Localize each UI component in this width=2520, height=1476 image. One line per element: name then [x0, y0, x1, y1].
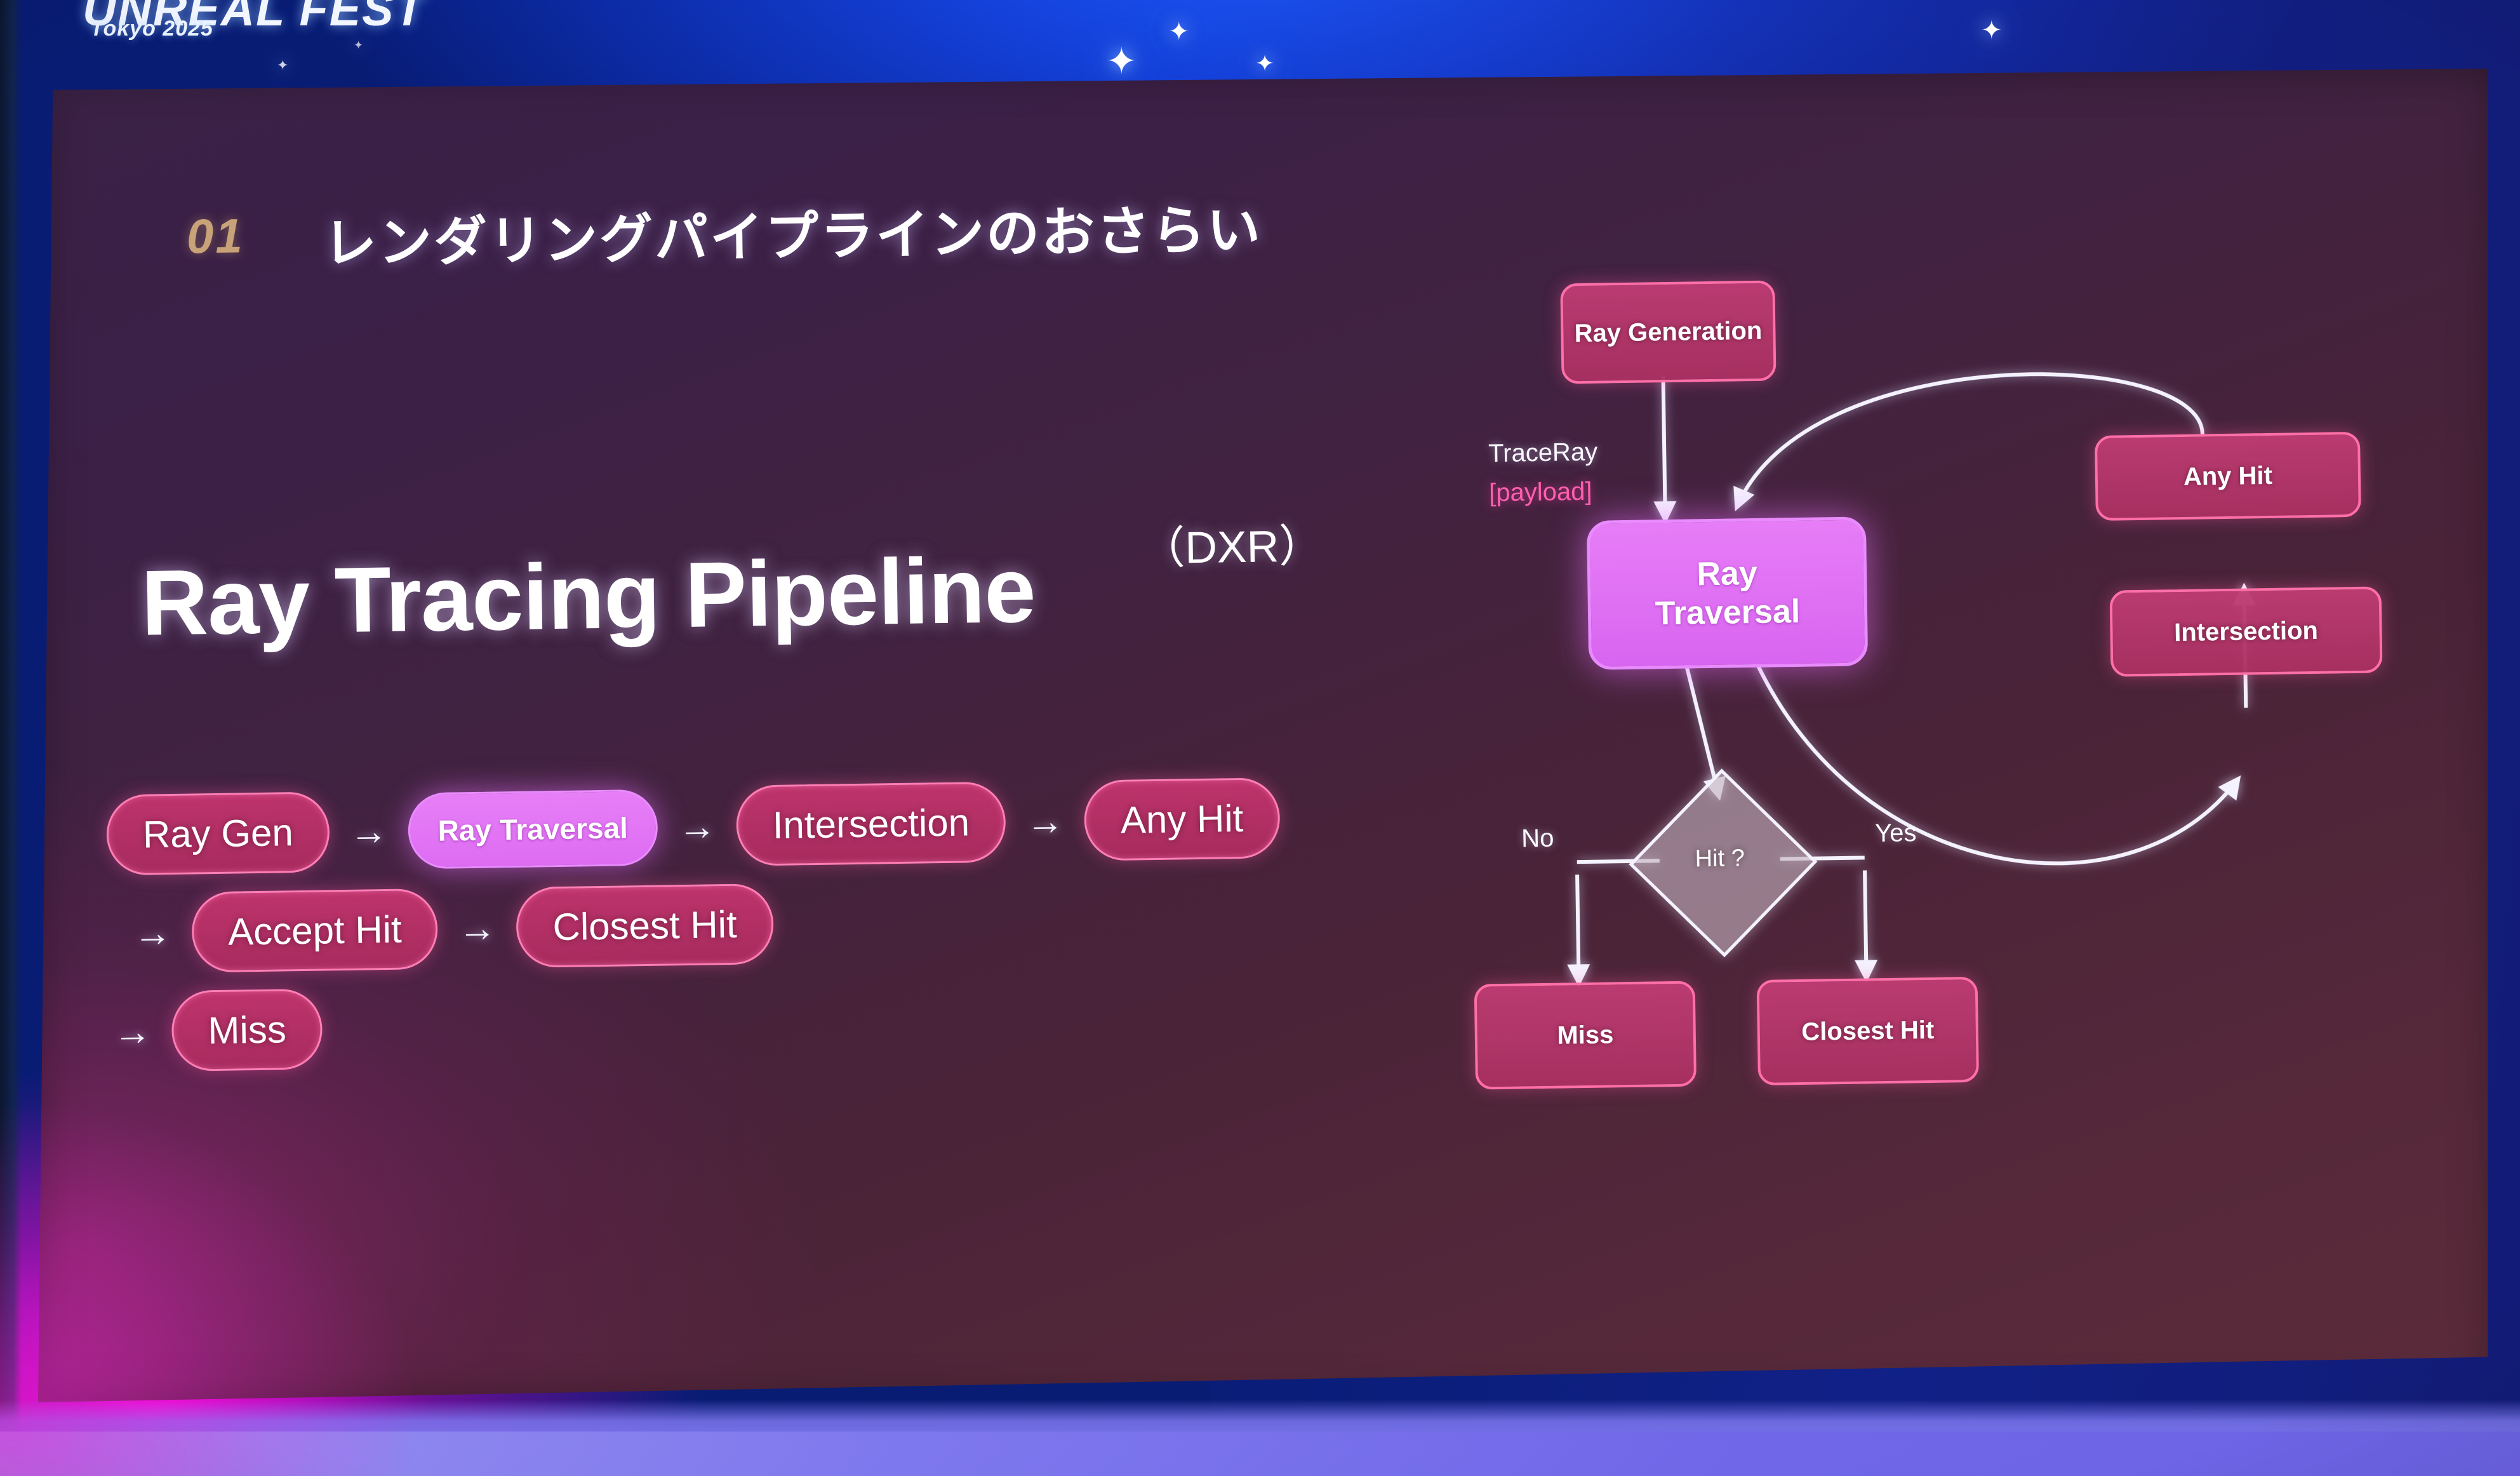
- stage-chip-ray-traversal[interactable]: Ray Traversal: [408, 789, 658, 869]
- flow-label-payload: [payload]: [1489, 478, 1592, 507]
- arrow-right-icon: →: [458, 906, 497, 950]
- flow-label-trace-ray: TraceRay: [1488, 438, 1598, 469]
- stage-chip-closest-hit[interactable]: Closest Hit: [516, 883, 774, 968]
- stage-chip-row: Ray Gen → Ray Traversal → Intersection →…: [106, 775, 1472, 876]
- edge-raygen-to-traversal: [1663, 376, 1665, 520]
- arrow-right-icon: →: [677, 804, 716, 849]
- screen-left-edge: [0, 0, 22, 1476]
- flow-label-no: No: [1521, 824, 1554, 854]
- edge-no-to-miss: [1577, 875, 1579, 983]
- stage-chip-accept-hit[interactable]: Accept Hit: [191, 889, 438, 973]
- ray-tracing-flowchart: Ray Generation TraceRay [payload] RayTra…: [1553, 305, 2494, 1259]
- flow-node-miss[interactable]: Miss: [1474, 981, 1697, 1089]
- flow-node-closest-hit[interactable]: Closest Hit: [1757, 977, 1979, 1085]
- flow-node-hit-decision-label: Hit ?: [1681, 845, 1758, 873]
- page-title: Ray Tracing Pipeline: [140, 537, 1036, 657]
- stage-chip-miss[interactable]: Miss: [171, 989, 323, 1072]
- flow-node-ray-traversal-line1: RayTraversal: [1654, 554, 1800, 633]
- edge-yes-to-closest-hit: [1865, 870, 1867, 978]
- stage-chip-ray-gen[interactable]: Ray Gen: [106, 791, 330, 875]
- event-brand-subtitle: Tokyo 2025: [90, 17, 213, 41]
- projected-slide-photo: UNREAL FEST Tokyo 2025 ✦ ✦ ✦ ✦ ✦ ✦ ✦ 01 …: [0, 0, 2520, 1476]
- slide-panel: 01 レンダリングパイプラインのおさらい Ray Tracing Pipelin…: [38, 69, 2495, 1402]
- stage-chip-intersection[interactable]: Intersection: [736, 782, 1006, 866]
- stage-chip-row: → Accept Hit → Closest Hit: [107, 873, 1474, 974]
- stage-chip-row: → Miss: [109, 972, 1476, 1073]
- arrow-right-icon: →: [113, 1010, 152, 1054]
- screen-bottom-strip-lower: [0, 1432, 2520, 1476]
- page-title-superscript: （DXR）: [1140, 510, 1324, 577]
- arrow-right-icon: →: [133, 911, 172, 955]
- flow-node-any-hit[interactable]: Any Hit: [2095, 432, 2361, 521]
- section-title: レンダリングパイプラインのおさらい: [323, 187, 1263, 278]
- stage-chip-list: Ray Gen → Ray Traversal → Intersection →…: [106, 775, 1476, 1090]
- flow-node-ray-generation[interactable]: Ray Generation: [1560, 280, 1776, 384]
- flow-node-intersection[interactable]: Intersection: [2110, 586, 2383, 676]
- flow-label-yes: Yes: [1875, 819, 1917, 848]
- flow-node-ray-traversal[interactable]: RayTraversal: [1587, 516, 1868, 670]
- section-number: 01: [186, 208, 244, 264]
- arrow-right-icon: →: [1025, 799, 1064, 843]
- stage-chip-any-hit[interactable]: Any Hit: [1084, 777, 1280, 861]
- edge-traversal-to-intersection: [1755, 652, 2239, 868]
- arrow-right-icon: →: [349, 809, 388, 854]
